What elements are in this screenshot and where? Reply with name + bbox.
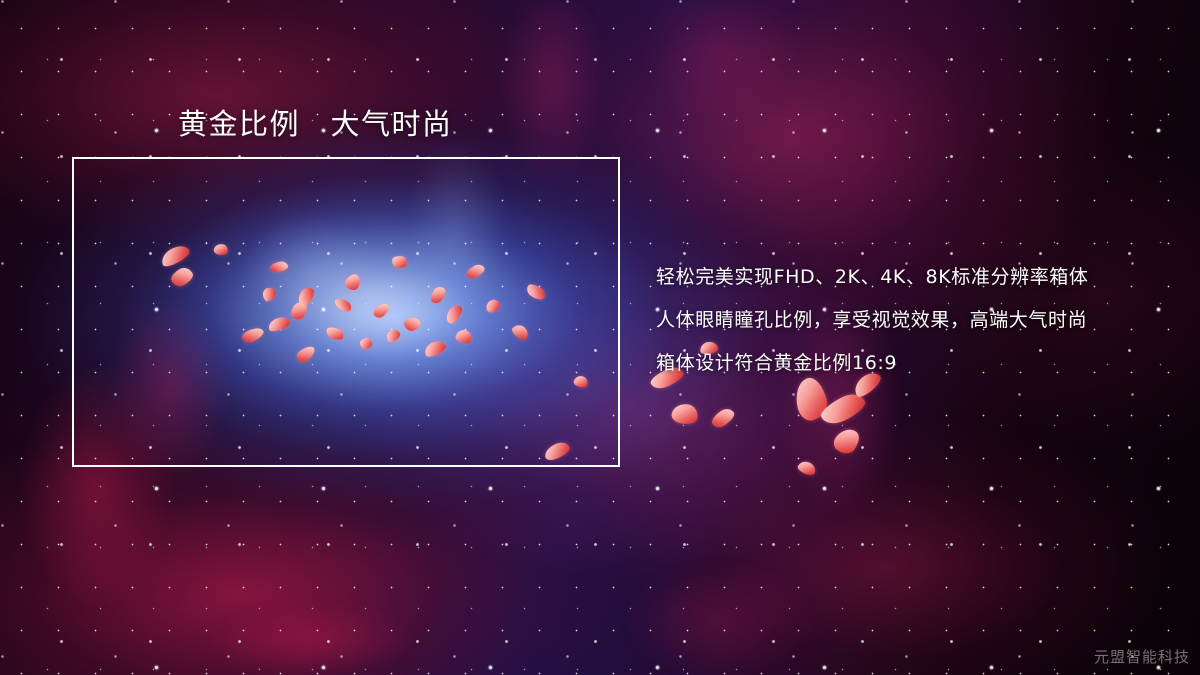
petal bbox=[830, 424, 863, 458]
slide-title: 黄金比例 大气时尚 bbox=[178, 101, 453, 143]
petal bbox=[670, 401, 700, 427]
body-line-3: 箱体设计符合黄金比例16:9 bbox=[656, 342, 1156, 385]
petal bbox=[709, 405, 737, 430]
body-text-block: 轻松完美实现FHD、2K、4K、8K标准分辨率箱体 人体眼睛瞳孔比例，享受视觉效… bbox=[656, 256, 1156, 385]
body-line-2: 人体眼睛瞳孔比例，享受视觉效果，高端大气时尚 bbox=[656, 299, 1156, 342]
preview-frame-16-9 bbox=[72, 157, 620, 467]
petal bbox=[796, 459, 817, 477]
watermark: 元盟智能科技 bbox=[1094, 646, 1190, 667]
body-line-1: 轻松完美实现FHD、2K、4K、8K标准分辨率箱体 bbox=[656, 256, 1156, 299]
presentation-slide: 黄金比例 大气时尚 轻松完美实现FHD、2K、4K、8K标准分辨率箱体 人体眼睛… bbox=[0, 0, 1200, 675]
